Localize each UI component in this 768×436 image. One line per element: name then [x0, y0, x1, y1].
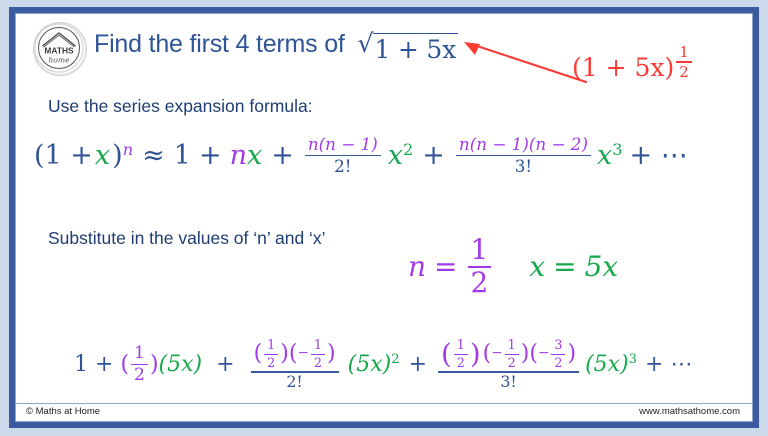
expansion-t1-bracket: (5x) [159, 352, 203, 377]
series-expansion-formula: (1 + x ) n ≈ 1 + n x + n(n − 1) 2! x 2 + [34, 136, 688, 175]
substitution-n-numerator: 1 [468, 236, 492, 265]
formula-term-2-numerator: n(n − 1) [305, 136, 381, 153]
fraction-bar [505, 354, 519, 356]
formula-lhs-close: ) [112, 140, 123, 171]
substitution-x-value: 5x [585, 250, 619, 283]
expansion-t3-c-minus: − [538, 347, 549, 361]
expansion-t3-b-denominator: 2 [505, 357, 519, 370]
radical-sign: √ [357, 32, 373, 64]
formula-term-2-power: 2 [403, 140, 413, 159]
expansion-t2-numerator: ( 1 2 ) ( − 1 2 [251, 339, 339, 370]
expansion-plus-1: + [95, 352, 113, 377]
formula-lhs-x: x [95, 140, 110, 171]
fraction-bar [311, 354, 325, 356]
expansion-t2-b-open: ( [289, 343, 298, 365]
footer-copyright: © Maths at Home [26, 406, 100, 417]
footer-website: www.mathsathome.com [639, 406, 740, 417]
annotation-exponent: 1 2 [674, 45, 694, 80]
expansion-term-0: 1 [74, 352, 88, 377]
page-title-lead: Find the first 4 terms of [94, 30, 345, 58]
footer-divider [16, 403, 752, 404]
expansion-plus-2: + [216, 352, 234, 377]
expansion-t2-a-numerator: 1 [264, 339, 278, 352]
expansion-t3-b-close: ) [521, 343, 530, 365]
substituted-expansion: 1 + ( 1 2 ) (5x) + ( 1 [74, 339, 692, 390]
formula-term-3-denominator: 3! [512, 158, 535, 175]
expansion-t3-c-open: ( [529, 343, 538, 365]
expansion-t3-b-fraction: 1 2 [505, 339, 519, 370]
formula-plus-3: + [422, 140, 445, 171]
formula-ellipsis: + ⋯ [630, 140, 688, 171]
expansion-t3-c-fraction: 3 2 [551, 339, 565, 370]
expansion-t1-half: 1 2 [131, 345, 148, 385]
formula-term-0: 1 [174, 140, 191, 171]
radical-body: 1 + 5x [373, 33, 458, 64]
substitution-n-label: n [408, 250, 426, 283]
expansion-t3-a-close: ) [470, 340, 481, 368]
expansion-t2-denominator: 2! [283, 374, 305, 390]
expansion-t2-a-open: ( [254, 343, 263, 365]
annotation-arrow-icon [460, 38, 590, 86]
formula-approx-sign: ≈ [142, 140, 165, 171]
formula-term-2-variable: x [388, 140, 403, 171]
slide-canvas: MATHS home Find the first 4 terms of √1 … [15, 13, 753, 422]
maths-at-home-logo: MATHS home [33, 22, 87, 76]
expansion-t3-a-numerator: 1 [454, 339, 468, 352]
expansion-t3-bracket: (5x) [585, 352, 629, 377]
step-1-label: Use the series expansion formula: [48, 96, 313, 117]
expansion-t3-a-denominator: 2 [454, 357, 468, 370]
substitution-n-denominator: 2 [468, 269, 492, 298]
expansion-t3-a-open: ( [441, 340, 452, 368]
expansion-t2-b-minus: − [297, 347, 308, 361]
formula-plus-2: + [271, 140, 294, 171]
logo-maths-text: MATHS [44, 46, 74, 56]
substitution-n-equals: = [434, 250, 457, 283]
expansion-t3-b-minus: − [491, 347, 502, 361]
expansion-t3-c-close: ) [567, 343, 576, 365]
expansion-t2-power: 2 [391, 352, 399, 367]
fraction-bar [264, 354, 278, 356]
expansion-t3-c-numerator: 3 [551, 339, 565, 352]
expansion-t3-a-fraction: 1 2 [454, 339, 468, 370]
expansion-t3-c-denominator: 2 [551, 357, 565, 370]
logo-graphic: MATHS home [34, 23, 84, 73]
expansion-t2-a-denominator: 2 [264, 357, 278, 370]
expansion-t2-fraction: ( 1 2 ) ( − 1 2 [251, 339, 339, 390]
formula-term-2-denominator: 2! [331, 158, 354, 175]
step-2-text: Substitute in the values of ‘n’ and ‘x’ [48, 228, 326, 248]
expansion-t3-power: 3 [629, 352, 637, 367]
expansion-t2-b-numerator: 1 [311, 339, 325, 352]
expansion-t1-half-numerator: 1 [131, 345, 148, 362]
expansion-ellipsis: + ⋯ [645, 352, 692, 377]
substitution-x-equals: = [553, 250, 576, 283]
expansion-t1-close-paren: ) [150, 352, 159, 377]
formula-term-3-power: 3 [612, 140, 622, 159]
title-radical: √1 + 5x [357, 32, 458, 64]
expansion-t2-b-close: ) [327, 343, 336, 365]
expansion-t3-b-numerator: 1 [505, 339, 519, 352]
annotation-exponent-denominator: 2 [676, 65, 692, 80]
expansion-t2-bracket: (5x) [348, 352, 392, 377]
expansion-t2-a-fraction: 1 2 [264, 339, 278, 370]
annotation-exponent-numerator: 1 [676, 45, 692, 60]
expansion-t3-b-open: ( [483, 343, 492, 365]
substitution-n-fraction: 1 2 [468, 236, 492, 298]
formula-term-3-variable: x [597, 140, 612, 171]
step-2-label: Substitute in the values of ‘n’ and ‘x’ [48, 228, 326, 249]
logo-home-text: home [48, 56, 70, 65]
expansion-t3-denominator: 3! [497, 374, 519, 390]
expansion-plus-3: + [409, 352, 427, 377]
expansion-t3-numerator: ( 1 2 ) ( − 1 2 [438, 339, 579, 370]
formula-term-1-n: n [230, 140, 247, 171]
fraction-bar [551, 354, 565, 356]
annotation-exponent-fraction: 1 2 [676, 45, 692, 80]
expansion-t1-open-paren: ( [120, 352, 129, 377]
expansion-t2-a-close: ) [280, 343, 289, 365]
expansion-t3-fraction: ( 1 2 ) ( − 1 2 [438, 339, 579, 390]
formula-lhs-exponent: n [123, 140, 133, 159]
formula-term-3-fraction: n(n − 1)(n − 2) 3! [456, 136, 591, 175]
page-title: Find the first 4 terms of √1 + 5x [94, 30, 458, 64]
expansion-t1-half-denominator: 2 [131, 367, 148, 384]
fraction-bar [454, 354, 468, 356]
formula-term-2-fraction: n(n − 1) 2! [305, 136, 381, 175]
slide-background: MATHS home Find the first 4 terms of √1 … [0, 0, 768, 436]
slide-frame: MATHS home Find the first 4 terms of √1 … [9, 7, 759, 428]
substitution-values: n = 1 2 x = 5x [408, 236, 618, 298]
expansion-t2-b-fraction: 1 2 [311, 339, 325, 370]
annotation-expression: (1 + 5x) 1 2 [572, 50, 694, 85]
expansion-t2-b-denominator: 2 [311, 357, 325, 370]
formula-lhs-open: (1 + [34, 140, 93, 171]
formula-term-1-x: x [247, 140, 262, 171]
formula-plus-1: + [199, 140, 222, 171]
substitution-x-label: x [529, 250, 545, 283]
annotation-base: (1 + 5x) [572, 53, 674, 82]
formula-term-3-numerator: n(n − 1)(n − 2) [456, 136, 591, 153]
